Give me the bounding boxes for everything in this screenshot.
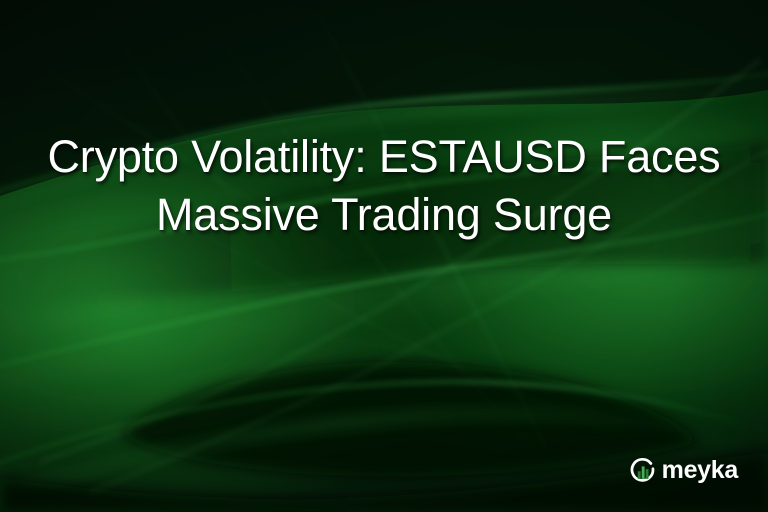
page-title: Crypto Volatility: ESTAUSD Faces Massive… <box>24 128 744 244</box>
brand-logo[interactable]: meyka <box>628 456 738 486</box>
share-card: Crypto Volatility: ESTAUSD Faces Massive… <box>0 0 768 512</box>
background-wave-art <box>0 0 768 512</box>
headline-block: Crypto Volatility: ESTAUSD Faces Massive… <box>0 128 768 244</box>
circle-bar-chart-icon <box>628 456 658 486</box>
brand-name: meyka <box>662 458 738 483</box>
